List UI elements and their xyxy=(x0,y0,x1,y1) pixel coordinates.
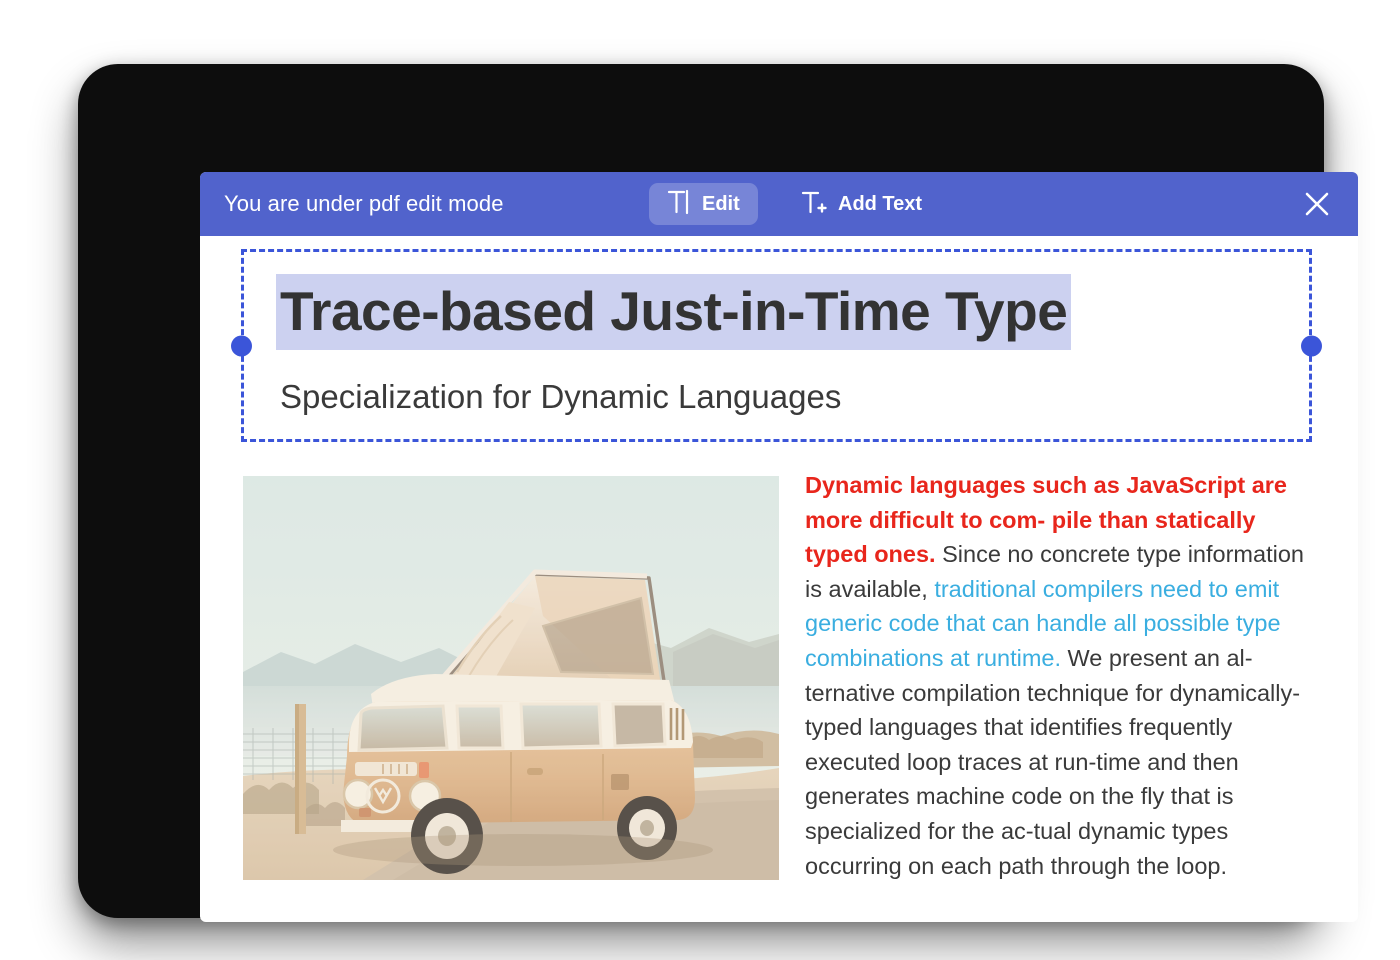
pdf-editor-screen: You are under pdf edit mode Edit xyxy=(200,172,1358,922)
abstract-paragraph[interactable]: Dynamic languages such as JavaScript are… xyxy=(805,468,1317,883)
edit-tool-label: Edit xyxy=(702,193,740,216)
document-subtitle[interactable]: Specialization for Dynamic Languages xyxy=(280,376,841,419)
close-button[interactable] xyxy=(1298,187,1336,225)
document-title[interactable]: Trace-based Just-in-Time Type xyxy=(276,274,1071,350)
selection-handle-left[interactable] xyxy=(231,335,252,356)
selection-handle-right[interactable] xyxy=(1301,335,1322,356)
device-bezel: You are under pdf edit mode Edit xyxy=(78,64,1324,918)
add-text-tool-button[interactable]: Add Text xyxy=(783,183,940,225)
pdf-edit-toolbar: You are under pdf edit mode Edit xyxy=(200,172,1358,236)
camper-van-photo xyxy=(243,476,779,880)
document-figure xyxy=(243,476,779,880)
title-selection-box[interactable]: Trace-based Just-in-Time Type Specializa… xyxy=(241,249,1312,442)
close-icon xyxy=(1301,188,1333,225)
edit-tool-button[interactable]: Edit xyxy=(649,183,758,225)
edit-mode-label: You are under pdf edit mode xyxy=(224,191,504,217)
screenshot-root: You are under pdf edit mode Edit xyxy=(0,0,1400,960)
document-body: Dynamic languages such as JavaScript are… xyxy=(200,460,1358,922)
text-plus-icon xyxy=(801,189,827,220)
add-text-tool-label: Add Text xyxy=(838,193,922,216)
text-cursor-icon xyxy=(667,189,691,220)
abstract-segment-default-2: We present an al- ternative compilation … xyxy=(805,645,1300,879)
